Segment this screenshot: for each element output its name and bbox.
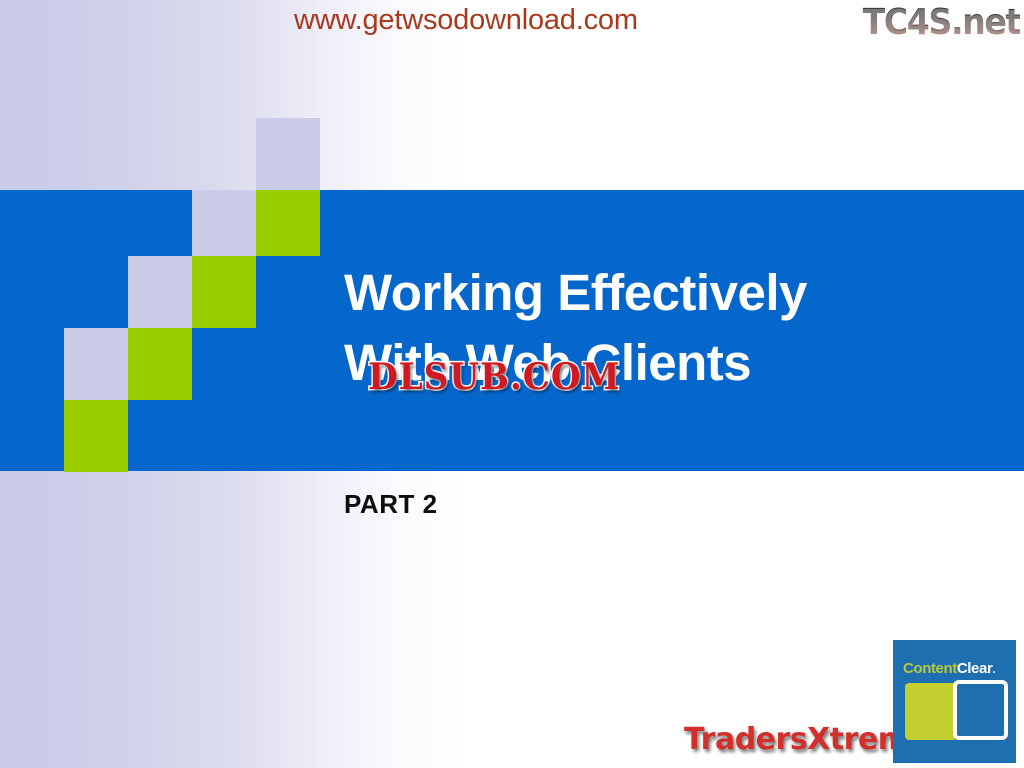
mosaic-square-green — [192, 256, 256, 328]
contentclear-shape-green — [905, 683, 957, 740]
watermark-top-url: www.getwsodownload.com — [294, 4, 638, 37]
slide-subtitle: PART 2 — [344, 489, 438, 520]
mosaic-square-green — [128, 328, 192, 400]
contentclear-wordmark: ContentClear. — [903, 660, 995, 677]
contentclear-word-clear: Clear — [957, 660, 993, 677]
mosaic-square-lavender — [256, 118, 320, 190]
contentclear-logo: ContentClear. — [893, 640, 1016, 763]
contentclear-word-dot: . — [992, 664, 995, 676]
mosaic-square-lavender — [64, 328, 128, 400]
watermark-dlsub: DLSUB.COM — [368, 356, 620, 398]
slide-title-line-1: Working Effectively — [344, 258, 1004, 328]
tc4s-logo: TC4S.net — [863, 2, 1020, 43]
mosaic-square-lavender — [128, 256, 192, 328]
mosaic-square-lavender — [192, 190, 256, 256]
mosaic-square-green — [64, 400, 128, 472]
contentclear-word-content: Content — [903, 660, 957, 677]
mosaic-square-green — [256, 190, 320, 256]
presentation-slide: Working Effectively With Web Clients PAR… — [0, 0, 1024, 768]
contentclear-shape-outline — [953, 680, 1008, 740]
